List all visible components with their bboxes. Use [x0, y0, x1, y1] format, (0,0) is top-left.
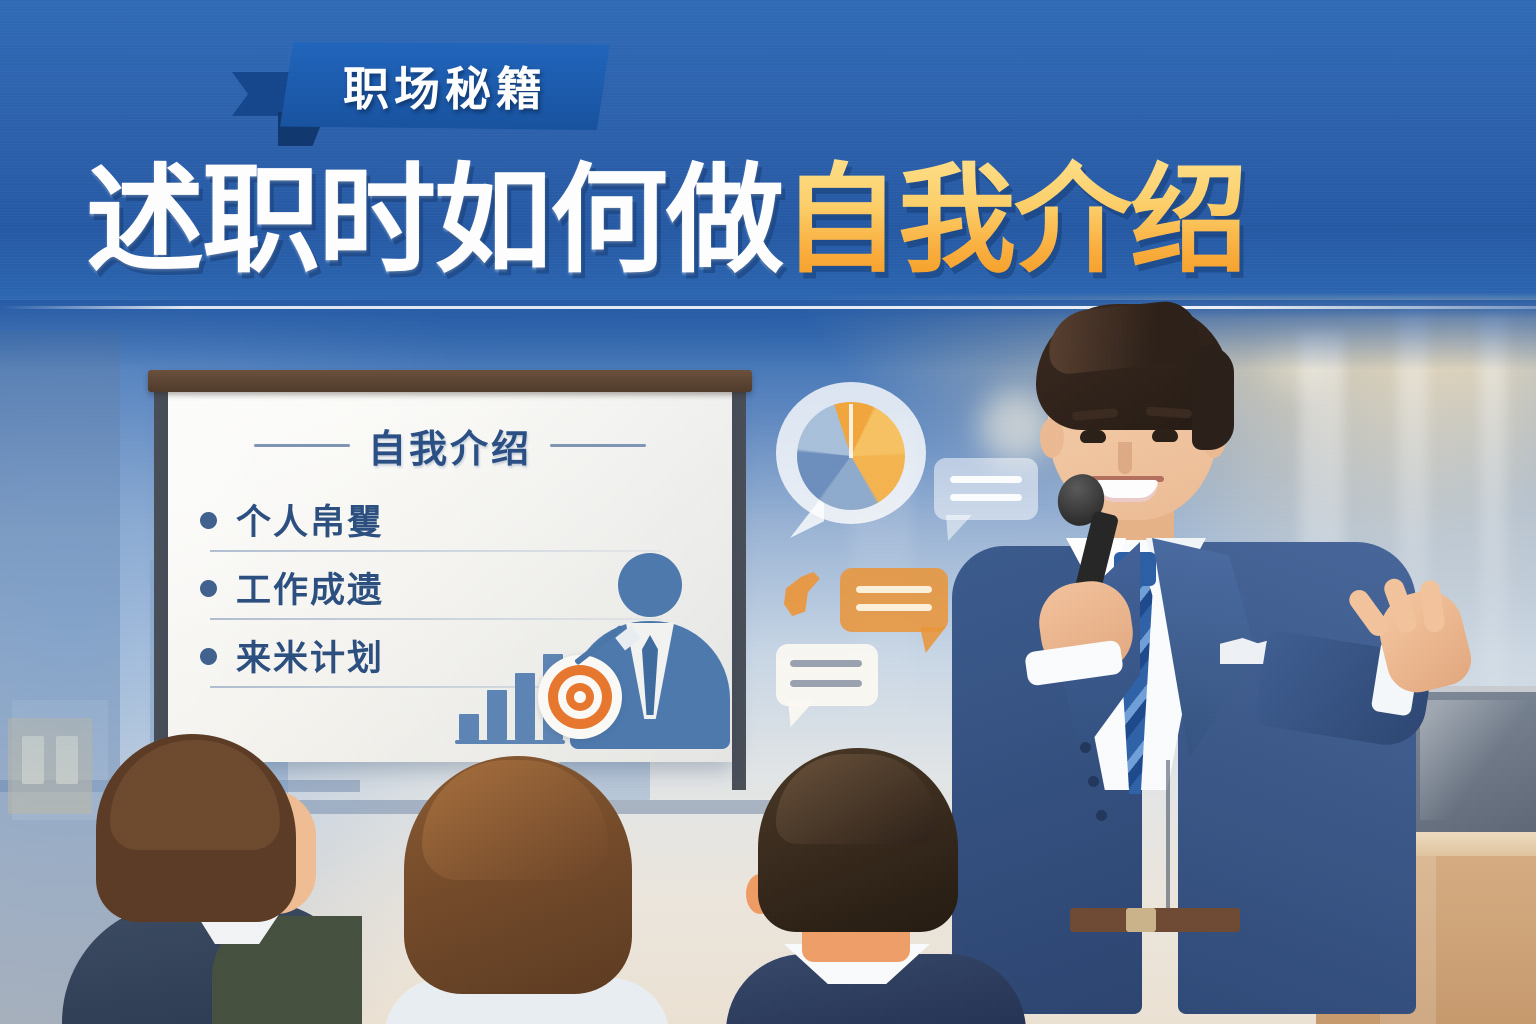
pie-chart-bubble: [776, 382, 926, 548]
bullet-dot-icon: [200, 648, 217, 665]
title-white-part: 述职时如何做: [86, 155, 782, 287]
whiteboard-heading-row: 自我介绍: [168, 420, 732, 470]
ribbon-label: 职场秘籍: [280, 42, 610, 130]
bullet-dot-icon: [200, 580, 217, 597]
eye-left: [1080, 430, 1106, 443]
page-title: 述职时如何做自我介绍: [86, 146, 1386, 296]
bullet-rule: [210, 550, 662, 552]
smile: [1096, 480, 1158, 502]
audience-member-3: [732, 748, 1022, 1024]
eye-right: [1152, 429, 1178, 442]
heading-rule-left: [254, 444, 350, 447]
whiteboard-frame-top: [148, 370, 752, 392]
list-item: 个人帛矍: [200, 490, 700, 558]
whiteboard-leg-left: [154, 390, 168, 790]
ribbon-banner: 职场秘籍: [232, 38, 652, 134]
whiteboard-heading: 自我介绍: [368, 418, 532, 473]
bullet-label: 个人帛矍: [236, 494, 384, 545]
speech-bubble-icon: [776, 644, 878, 706]
bullet-dot-icon: [200, 512, 217, 529]
whiteboard-leg-right: [732, 390, 746, 790]
audience-member-2: [378, 756, 678, 1024]
bullet-label: 来米计划: [236, 630, 384, 681]
title-gold-part: 自我介绍: [782, 155, 1246, 287]
heading-rule-right: [550, 444, 646, 447]
audience-member-1: [62, 734, 362, 1024]
bullet-label: 工作成遗: [236, 562, 384, 613]
poster-canvas: 职场秘籍 述职时如何做自我介绍 自我介绍 个人帛矍 工作成遗: [0, 0, 1536, 1024]
